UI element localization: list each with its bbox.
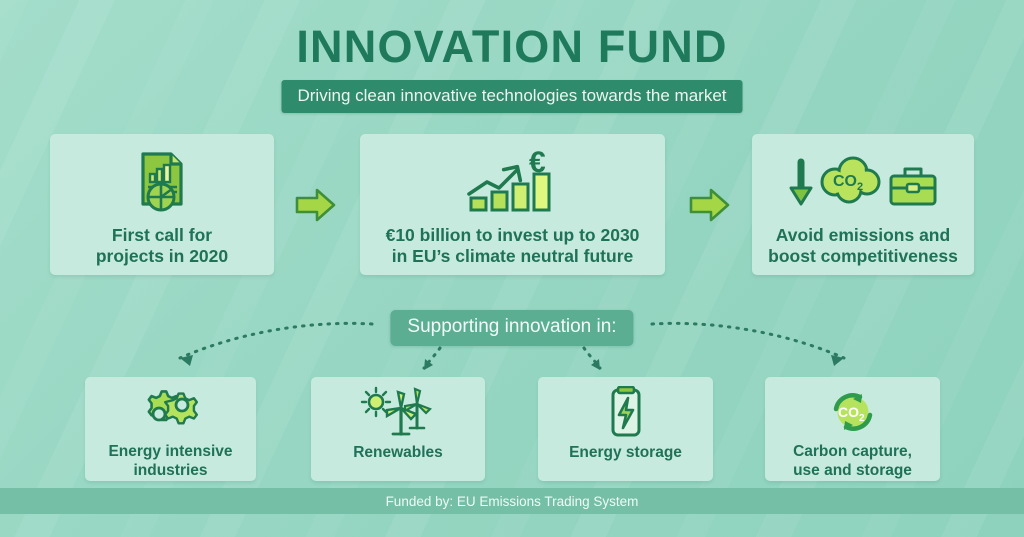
card-first-call-label: First call forprojects in 2020 (96, 225, 228, 268)
co2-down-briefcase-icon: CO 2 (787, 148, 939, 214)
card-energy-storage: Energy storage (538, 377, 713, 481)
footer-bar: Funded by: EU Emissions Trading System (0, 488, 1024, 514)
card-first-call: First call forprojects in 2020 (50, 134, 274, 275)
supporting-innovation-banner: Supporting innovation in: (390, 310, 633, 346)
card-energy-storage-label: Energy storage (569, 444, 682, 463)
subtitle-banner: Driving clean innovative technologies to… (281, 80, 742, 113)
svg-text:CO: CO (838, 404, 859, 420)
supporting-innovation-text: Supporting innovation in: (407, 316, 616, 337)
card-investment: € €10 billion to invest up to 2030in EU’… (360, 134, 665, 275)
card-emissions-label: Avoid emissions andboost competitiveness (768, 225, 958, 268)
sun-wind-turbine-icon (359, 386, 437, 438)
growth-chart-euro-icon: € (461, 148, 565, 214)
svg-text:CO: CO (833, 173, 857, 190)
right-arrow-icon (294, 185, 338, 225)
card-investment-label: €10 billion to invest up to 2030in EU’s … (386, 225, 640, 268)
right-arrow-icon-2 (688, 185, 732, 225)
card-renewables: Renewables (311, 377, 485, 481)
footer-text: Funded by: EU Emissions Trading System (386, 494, 639, 509)
document-chart-icon (131, 148, 193, 214)
co2-recycle-icon: CO 2 (826, 386, 880, 437)
infographic-poster: INNOVATION FUND Driving clean innovative… (0, 0, 1024, 537)
gears-icon (137, 386, 205, 437)
page-title: INNOVATION FUND (0, 24, 1024, 69)
card-energy-intensive-label: Energy intensiveindustries (108, 443, 232, 481)
card-emissions: CO 2 Avoid emissions andboost competitiv… (752, 134, 974, 275)
card-renewables-label: Renewables (353, 444, 443, 463)
battery-bolt-icon (605, 386, 647, 438)
svg-text:2: 2 (859, 413, 865, 424)
svg-text:2: 2 (857, 181, 863, 193)
card-carbon-capture-label: Carbon capture,use and storage (793, 443, 912, 481)
subtitle-text: Driving clean innovative technologies to… (297, 86, 726, 105)
card-carbon-capture: CO 2 Carbon capture,use and storage (765, 377, 940, 481)
card-energy-intensive: Energy intensiveindustries (85, 377, 256, 481)
